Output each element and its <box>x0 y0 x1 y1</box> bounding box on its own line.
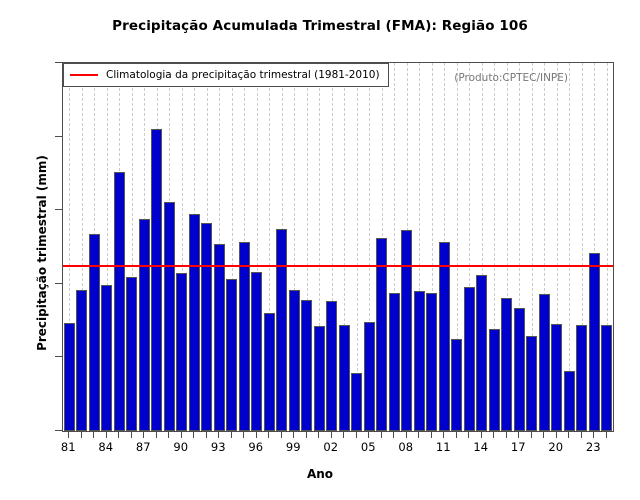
bar <box>276 229 287 431</box>
x-tick-mark <box>243 431 244 438</box>
x-tick-label: 23 <box>573 440 613 454</box>
x-tick-mark <box>318 431 319 438</box>
x-tick-mark <box>368 431 369 438</box>
bar <box>451 339 462 431</box>
x-tick-label: 84 <box>86 440 126 454</box>
x-tick-mark <box>443 431 444 438</box>
x-tick-mark <box>268 431 269 438</box>
bar <box>414 291 425 431</box>
x-tick-mark <box>468 431 469 438</box>
y-tick-mark <box>55 430 62 431</box>
bar <box>351 373 362 432</box>
chart-title: Precipitação Acumulada Trimestral (FMA):… <box>0 18 640 34</box>
x-tick-mark <box>256 431 257 438</box>
x-tick-mark <box>168 431 169 438</box>
legend-line-swatch-climatology <box>70 74 98 76</box>
x-tick-label: 96 <box>236 440 276 454</box>
x-tick-mark <box>106 431 107 438</box>
x-tick-mark <box>431 431 432 438</box>
plot-inner <box>63 63 613 431</box>
legend-label-climatology: Climatologia da precipitação trimestral … <box>106 69 380 81</box>
x-tick-mark <box>118 431 119 438</box>
y-tick-mark <box>55 62 62 63</box>
bar <box>301 300 312 431</box>
x-tick-mark <box>393 431 394 438</box>
x-tick-label: 90 <box>161 440 201 454</box>
bar <box>239 242 250 431</box>
legend: Climatologia da precipitação trimestral … <box>63 63 389 87</box>
x-tick-mark <box>218 431 219 438</box>
bar <box>164 202 175 431</box>
x-tick-mark <box>556 431 557 438</box>
plot-area <box>62 62 614 432</box>
x-tick-mark <box>593 431 594 438</box>
x-tick-mark <box>68 431 69 438</box>
bar <box>439 242 450 431</box>
bar <box>151 129 162 431</box>
bar <box>364 322 375 431</box>
x-tick-label: 93 <box>198 440 238 454</box>
x-tick-mark <box>231 431 232 438</box>
x-tick-mark <box>581 431 582 438</box>
bar <box>426 293 437 431</box>
bar <box>514 308 525 431</box>
bar <box>101 285 112 431</box>
x-tick-label: 02 <box>311 440 351 454</box>
bar <box>326 301 337 431</box>
x-tick-mark <box>281 431 282 438</box>
x-tick-mark <box>181 431 182 438</box>
bar <box>114 172 125 431</box>
x-tick-mark <box>193 431 194 438</box>
x-tick-label: 17 <box>498 440 538 454</box>
bar <box>576 325 587 431</box>
x-tick-mark <box>131 431 132 438</box>
bar <box>139 219 150 431</box>
x-tick-label: 81 <box>48 440 88 454</box>
bar <box>226 279 237 431</box>
x-tick-mark <box>81 431 82 438</box>
climatology-line <box>63 265 613 267</box>
bar <box>201 223 212 431</box>
bar <box>64 323 75 431</box>
bar <box>564 371 575 431</box>
bar <box>264 313 275 431</box>
bar <box>339 325 350 431</box>
bar <box>89 234 100 431</box>
x-tick-label: 99 <box>273 440 313 454</box>
x-tick-mark <box>493 431 494 438</box>
precipitation-bar-chart: Precipitação Acumulada Trimestral (FMA):… <box>0 0 640 500</box>
bar <box>189 214 200 431</box>
x-tick-mark <box>406 431 407 438</box>
x-tick-label: 87 <box>123 440 163 454</box>
x-tick-mark <box>481 431 482 438</box>
producer-annotation: (Produto:CPTEC/INPE) <box>454 72 568 84</box>
bar <box>551 324 562 431</box>
y-tick-mark <box>55 209 62 210</box>
x-tick-mark <box>568 431 569 438</box>
bar <box>401 230 412 431</box>
x-tick-mark <box>456 431 457 438</box>
y-tick-mark <box>55 283 62 284</box>
bar <box>464 287 475 431</box>
x-tick-mark <box>518 431 519 438</box>
x-axis-label: Ano <box>0 467 640 481</box>
bar <box>601 325 612 431</box>
x-tick-label: 11 <box>423 440 463 454</box>
x-tick-label: 20 <box>536 440 576 454</box>
bar <box>289 290 300 431</box>
bar <box>76 290 87 431</box>
bar <box>251 272 262 431</box>
x-tick-mark <box>356 431 357 438</box>
y-axis-label: Precipitação trimestral (mm) <box>35 83 49 423</box>
x-tick-label: 14 <box>461 440 501 454</box>
x-tick-mark <box>93 431 94 438</box>
x-tick-mark <box>306 431 307 438</box>
x-tick-mark <box>418 431 419 438</box>
bar <box>489 329 500 431</box>
x-tick-mark <box>606 431 607 438</box>
bar <box>476 275 487 431</box>
x-tick-mark <box>293 431 294 438</box>
bar <box>176 273 187 431</box>
x-tick-label: 08 <box>386 440 426 454</box>
x-tick-mark <box>143 431 144 438</box>
x-tick-mark <box>331 431 332 438</box>
y-tick-mark <box>55 356 62 357</box>
bar <box>126 277 137 431</box>
x-tick-mark <box>543 431 544 438</box>
x-tick-label: 05 <box>348 440 388 454</box>
bar <box>589 253 600 431</box>
bar <box>501 298 512 431</box>
x-tick-mark <box>206 431 207 438</box>
bar <box>539 294 550 431</box>
bar <box>214 244 225 431</box>
x-tick-mark <box>506 431 507 438</box>
bar <box>526 336 537 431</box>
y-tick-mark <box>55 136 62 137</box>
bar <box>314 326 325 431</box>
x-tick-mark <box>156 431 157 438</box>
x-tick-mark <box>381 431 382 438</box>
x-tick-mark <box>531 431 532 438</box>
x-tick-mark <box>343 431 344 438</box>
bar <box>389 293 400 431</box>
